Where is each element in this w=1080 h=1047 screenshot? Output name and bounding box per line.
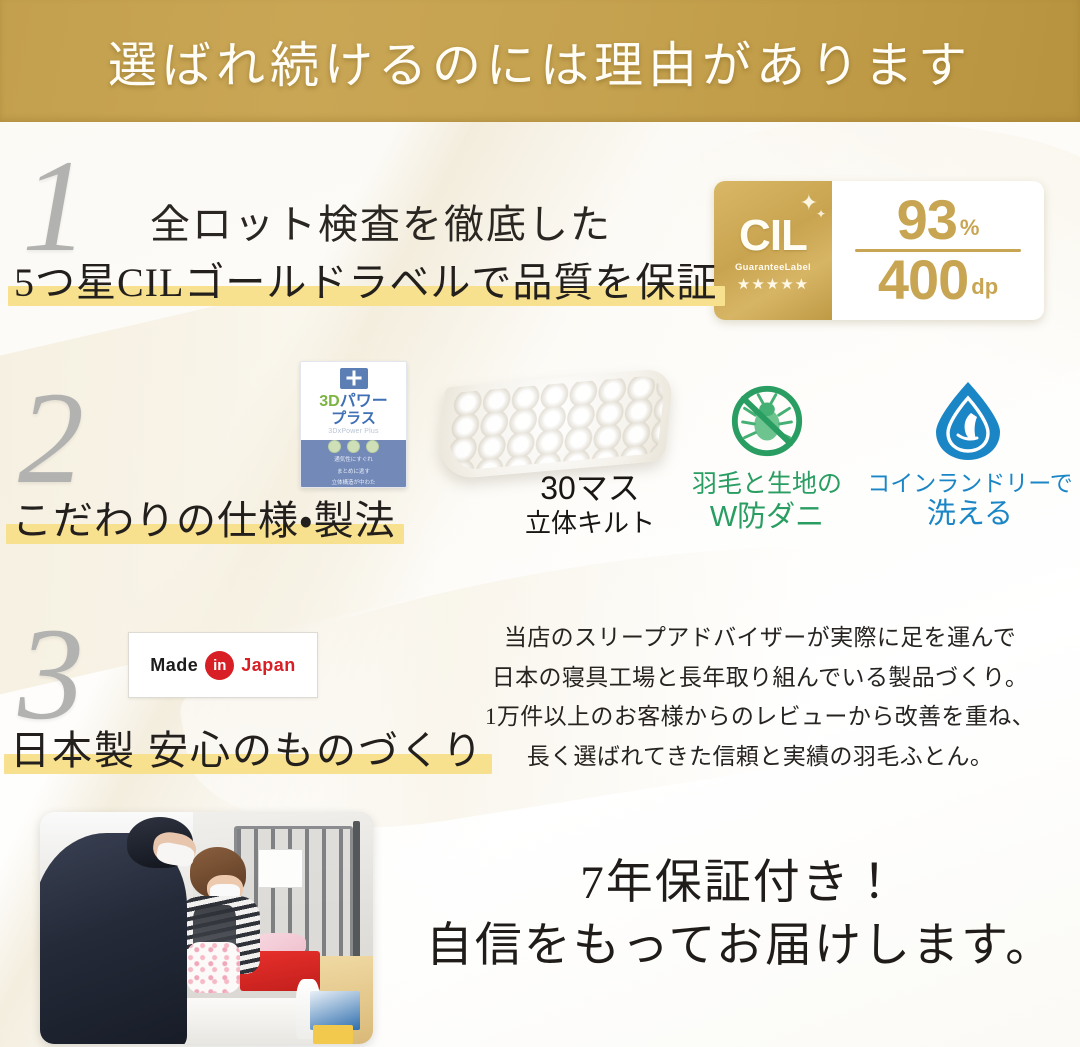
section1-heading-line2-wrap: 5つ星CILゴールドラベルで品質を保証 (14, 250, 717, 308)
factory-photo (40, 812, 373, 1044)
feature-label-mite: 羽毛と生地の W防ダニ (672, 470, 862, 534)
tag-fine-line3: 立体構造が中わた (331, 479, 375, 487)
paragraph-line-4: 長く選ばれてきた信頼と実績の羽毛ふとん。 (470, 737, 1050, 777)
japan-flag-circle-icon: in (205, 651, 234, 680)
header-banner: 選ばれ続けるのには理由があります (0, 0, 1080, 122)
tag-subtitle-en: 3DxPower Plus (328, 428, 378, 435)
tag-title-row: 3Dパワー (319, 394, 387, 411)
section1-heading-line1: 全ロット検査を徹底した (150, 192, 612, 250)
paragraph-line-2: 日本の寝具工場と長年取り組んでいる製品づくり。 (470, 658, 1050, 698)
feature-mite-line2: W防ダニ (672, 500, 862, 534)
tag-title-power: パワー (340, 393, 388, 410)
made-text: Made (150, 655, 198, 676)
section2-heading: こだわりの仕様・製法 (12, 488, 396, 546)
water-drop-icon (930, 380, 1006, 462)
cil-stars: ★★★★★ (737, 278, 809, 293)
tag-title-plus: プラス (331, 411, 376, 428)
feature-label-quilt: 30マス 立体キルト (505, 470, 675, 538)
tag-fine-line2: まとめに逃す (337, 468, 370, 476)
cil-fillpower-row: 400 dp (844, 253, 1032, 306)
cil-dp-unit: dp (971, 274, 998, 300)
feature-quilt-line2: 立体キルト (505, 508, 675, 539)
cil-sublabel: GuaranteeLabel (735, 262, 811, 273)
tag-logo-icon (340, 368, 368, 389)
quilt-photo (440, 378, 670, 470)
cil-downproof-row: 93 % (844, 193, 1032, 246)
closing-line2: 自信をもってお届けします。 (410, 915, 1070, 978)
section3-heading: 日本製 安心のものづくり (10, 718, 484, 776)
photo-note-paper (258, 849, 303, 888)
cil-badge-right-panel: 93 % 400 dp (832, 181, 1044, 320)
tag-dot-icon-2 (347, 440, 360, 453)
section2-heading-wrap: こだわりの仕様・製法 (12, 488, 396, 546)
closing-line1: 7年保証付き！ (410, 852, 1070, 915)
paragraph-line-1: 当店のスリープアドバイザーが実際に足を運んで (470, 618, 1050, 658)
tag-dot-icon-3 (366, 440, 379, 453)
cil-logo-text: CIL (739, 214, 807, 258)
photo-blue-package (310, 991, 360, 1030)
section3-paragraph: 当店のスリープアドバイザーが実際に足を運んで 日本の寝具工場と長年取り組んでいる… (470, 618, 1050, 776)
feature-label-washable: コインランドリーで 洗える (865, 470, 1075, 531)
banner-title: 選ばれ続けるのには理由があります (108, 26, 972, 97)
photo-cage-post (353, 821, 360, 965)
japan-text: Japan (241, 655, 296, 676)
cil-badge-left-panel: ✦ ✦ CIL GuaranteeLabel ★★★★★ (714, 181, 832, 320)
feature-wash-line2: 洗える (865, 497, 1075, 531)
feature-mite-line1: 羽毛と生地の (672, 470, 862, 500)
paragraph-line-3: 1万件以上のお客様からのレビューから改善を重ね、 (470, 697, 1050, 737)
tag-dot-icon-1 (328, 440, 341, 453)
3d-power-plus-tag: 3Dパワー プラス 3DxPower Plus 通気性にすぐれ まとめに逃す 立… (300, 361, 407, 488)
photo-yellow-item (313, 1025, 353, 1044)
cil-dp-value: 400 (878, 253, 968, 306)
tag-feature-dots (328, 440, 379, 453)
tag-fine-line1: 通気性にすぐれ (334, 456, 373, 464)
made-in-japan-badge: Made in Japan (128, 632, 318, 698)
feature-quilt-line1: 30マス (505, 470, 675, 508)
cil-gold-label-badge: ✦ ✦ CIL GuaranteeLabel ★★★★★ 93 % 400 dp (714, 181, 1044, 320)
cil-percent-unit: % (960, 215, 980, 241)
section1-heading-line2: 5つ星CILゴールドラベルで品質を保証 (14, 250, 717, 308)
closing-message: 7年保証付き！ 自信をもってお届けします。 (410, 852, 1070, 978)
photo-person2-skirt (187, 942, 240, 993)
section-number-2: 2 (18, 372, 84, 504)
section3-heading-wrap: 日本製 安心のものづくり (10, 718, 484, 776)
no-mite-icon (728, 382, 806, 460)
tag-title-3d: 3D (319, 393, 339, 410)
promo-page: 選ばれ続けるのには理由があります 1 全ロット検査を徹底した 5つ星CILゴール… (0, 0, 1080, 1047)
cil-percent-value: 93 (897, 193, 957, 246)
feature-wash-line1: コインランドリーで (865, 470, 1075, 497)
tag-bottom-band: 通気性にすぐれ まとめに逃す 立体構造が中わた (301, 440, 406, 487)
sparkle-small-icon: ✦ (816, 207, 826, 222)
